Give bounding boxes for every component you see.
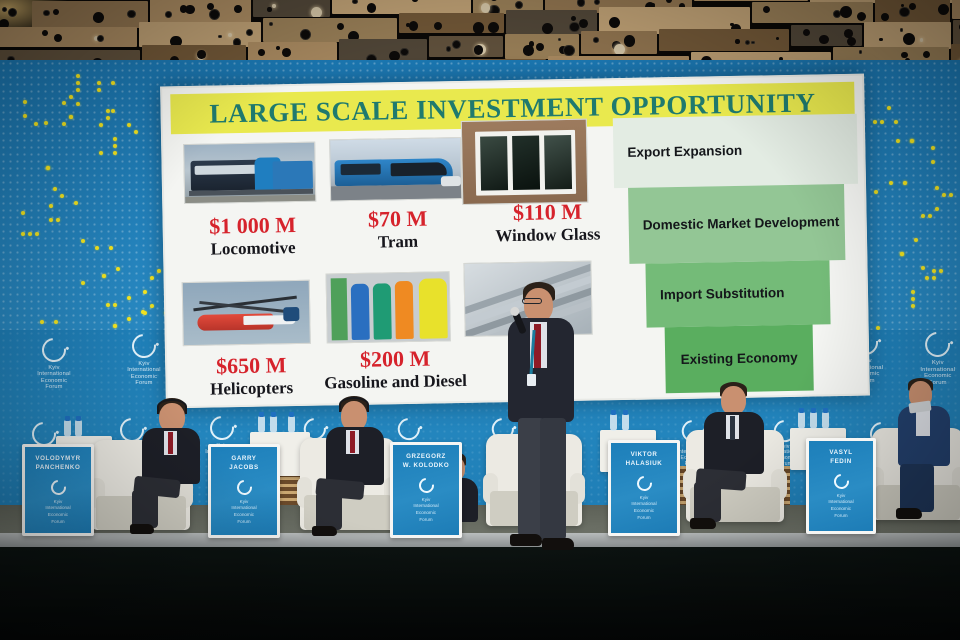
map-dot — [928, 214, 932, 218]
placard-name-1: GARRYJACOBS — [229, 454, 258, 473]
product-price-4: $200 M — [315, 345, 475, 374]
ceiling-light-hole — [276, 46, 280, 50]
map-dot — [54, 320, 58, 324]
ceiling-light-hole — [43, 10, 50, 17]
ceiling-light-hole — [536, 43, 545, 52]
map-dot — [46, 166, 50, 170]
ceiling-light-hole — [903, 33, 915, 45]
ceiling-light-hole — [542, 23, 553, 34]
ceiling-light-hole — [847, 37, 856, 46]
ceiling-light-hole — [666, 0, 673, 3]
map-dot — [62, 122, 66, 126]
map-dot — [127, 123, 131, 127]
ceiling-panel — [791, 25, 862, 46]
ceiling-light-hole — [481, 3, 490, 12]
map-dot — [69, 115, 73, 119]
shoe-4 — [690, 518, 716, 529]
map-dot — [106, 109, 110, 113]
ceiling-light-hole — [822, 36, 828, 42]
map-dot — [113, 137, 117, 141]
ceiling-light-hole — [8, 8, 17, 17]
map-dot — [76, 88, 80, 92]
ceiling-light-hole — [614, 44, 625, 55]
map-dot — [896, 139, 900, 143]
map-dot — [60, 194, 64, 198]
shoe-1 — [130, 524, 154, 534]
pyramid-level-3-label: Existing Economy — [681, 349, 798, 368]
ceiling-light-hole — [228, 33, 232, 37]
ceiling-panel — [864, 22, 951, 49]
map-dot — [949, 193, 953, 197]
map-dot — [889, 181, 893, 185]
ceiling-light-hole — [2, 7, 7, 12]
pyramid-level-2: Import Substitution — [645, 260, 830, 327]
opportunity-pyramid: Export Expansion Domestic Market Develop… — [613, 114, 862, 392]
ceiling-light-hole — [563, 45, 575, 57]
ceiling-panel — [752, 2, 872, 23]
placard-garry-jacobs[interactable]: GARRYJACOBS KyivInternational EconomicFo… — [208, 444, 280, 538]
map-dot — [113, 324, 117, 328]
ceiling-light-hole — [751, 41, 754, 44]
water-bottle-5 — [288, 416, 295, 433]
kief-ring-icon-0 — [47, 477, 68, 498]
ceiling-light-hole — [474, 45, 484, 55]
map-dot — [113, 151, 117, 155]
water-bottle-6 — [610, 414, 617, 431]
placard-sub-4: KyivInternational EconomicForum — [828, 493, 853, 521]
water-bottle-1 — [64, 420, 71, 437]
pyramid-level-0-label: Export Expansion — [613, 142, 742, 161]
map-dot — [62, 101, 66, 105]
ceiling-light-hole — [218, 35, 222, 39]
ceiling-light-hole — [488, 22, 499, 33]
ceiling-light-hole — [93, 12, 104, 23]
tie-4 — [730, 416, 735, 440]
map-dot — [894, 120, 898, 124]
ceiling-light-hole — [452, 40, 461, 49]
placard-sub-2: KyivInternational EconomicForum — [413, 497, 438, 525]
map-dot — [76, 102, 80, 106]
map-dot — [134, 130, 138, 134]
ceiling-panel — [139, 22, 260, 48]
tie-1 — [168, 432, 173, 454]
map-dot — [99, 123, 103, 127]
ceiling-light-hole — [920, 38, 923, 41]
kief-logo-0: KyivInternationalEconomicForum — [18, 338, 90, 390]
ceiling-light-hole — [165, 11, 172, 18]
map-dot — [150, 304, 154, 308]
ceiling-panel — [253, 0, 330, 17]
ceiling-light-hole — [446, 46, 451, 51]
map-dot — [21, 211, 25, 215]
ceiling-light-hole — [624, 35, 636, 47]
map-dot — [900, 252, 904, 256]
speaker-shoe-left — [510, 534, 542, 546]
leg-right-2 — [316, 492, 342, 530]
conference-stage-scene: KyivInternationalEconomicForumKyivIntern… — [0, 0, 960, 640]
ceiling-light-hole — [412, 0, 417, 2]
ceiling-panel — [399, 13, 505, 33]
shoe-5 — [896, 508, 922, 519]
ceiling-light-hole — [267, 7, 271, 11]
ceiling-panel — [332, 0, 471, 14]
ceiling-light-hole — [857, 12, 866, 21]
map-dot — [932, 269, 936, 273]
ceiling-light-hole — [197, 50, 205, 58]
map-dot — [113, 303, 117, 307]
ceiling-light-hole — [258, 49, 265, 56]
shirt-5 — [916, 410, 930, 436]
product-name-4: Gasoline and Diesel — [315, 371, 475, 394]
ceiling-light-hole — [593, 37, 599, 43]
map-dot — [76, 81, 80, 85]
map-dot — [102, 274, 106, 278]
map-dot — [111, 81, 115, 85]
ceiling-light-hole — [594, 0, 600, 5]
ceiling-panel — [429, 36, 502, 57]
ceiling-panel — [875, 0, 951, 24]
map-dot — [925, 276, 929, 280]
map-dot — [887, 106, 891, 110]
product-price-3: $650 M — [171, 351, 331, 380]
water-bottle-4 — [270, 416, 277, 433]
map-dot — [914, 238, 918, 242]
headset-1 — [157, 399, 187, 414]
map-dot — [127, 296, 131, 300]
placard-grzegorz-kolodko[interactable]: GRZEGORZW. KOLODKO KyivInternational Eco… — [390, 442, 462, 538]
map-dot — [116, 267, 120, 271]
ceiling-light-hole — [53, 9, 59, 15]
map-dot — [23, 100, 27, 104]
ceiling-light-hole — [434, 22, 442, 30]
map-dot — [874, 190, 878, 194]
map-dot — [911, 304, 915, 308]
map-dot — [49, 218, 53, 222]
ceiling-panel — [659, 29, 789, 51]
ceiling-light-hole — [859, 50, 862, 53]
product-price-0: $1 000 M — [172, 211, 332, 240]
ceiling-light-hole — [529, 41, 535, 47]
ceiling-panel — [952, 0, 960, 19]
kief-logo-label: KyivInternationalEconomicForum — [18, 365, 90, 390]
map-dot — [109, 246, 113, 250]
ceiling-panel — [150, 0, 251, 23]
panelist-person-5 — [896, 378, 960, 530]
ceiling-light-hole — [899, 7, 910, 18]
placard-name-4: VASYLFEDIN — [829, 448, 852, 467]
shoe-2 — [312, 526, 337, 536]
helicopter-photo — [182, 280, 311, 346]
ceiling-panel — [581, 31, 658, 54]
map-dot — [157, 269, 161, 273]
kief-ring-icon-1 — [233, 477, 254, 498]
map-dot — [106, 116, 110, 120]
water-bottle-8 — [798, 412, 805, 429]
kief-ring-icon — [37, 333, 71, 367]
map-dot — [44, 121, 48, 125]
ceiling-light-hole — [246, 29, 253, 36]
map-dot — [150, 276, 154, 280]
ceiling-light-hole — [490, 0, 498, 1]
map-dot — [106, 303, 110, 307]
ceiling-light-hole — [97, 35, 104, 42]
ceiling-panel — [32, 1, 148, 28]
ceiling-light-hole — [209, 9, 220, 20]
ceiling-light-hole — [473, 22, 485, 33]
map-dot — [932, 276, 936, 280]
ceiling-light-hole — [272, 4, 276, 8]
map-dot — [97, 81, 101, 85]
ceiling-light-hole — [900, 28, 903, 31]
standing-speaker — [500, 282, 588, 560]
speaker-badge — [527, 374, 536, 386]
speaker-shoe-right — [542, 538, 574, 550]
ceiling-light-hole — [735, 39, 739, 43]
pyramid-level-2-label: Import Substitution — [646, 285, 785, 304]
leg-5 — [900, 464, 934, 512]
map-dot — [69, 95, 73, 99]
ceiling-light-hole — [571, 16, 576, 21]
placard-volodymyr-panchenko[interactable]: VOLODYMYRPANCHENKO KyivInternational Eco… — [22, 444, 94, 536]
placard-name-2: GRZEGORZW. KOLODKO — [403, 452, 450, 471]
ceiling-light-hole — [609, 17, 621, 29]
product-name-0: Locomotive — [173, 237, 333, 260]
map-dot — [35, 232, 39, 236]
ceiling-light-hole — [745, 40, 750, 45]
ceiling-light-hole — [881, 13, 890, 22]
map-dot — [28, 232, 32, 236]
map-dot — [21, 232, 25, 236]
ceiling-light-hole — [577, 0, 586, 7]
placard-vasyl-fedin[interactable]: VASYLFEDIN KyivInternational EconomicFor… — [806, 438, 876, 534]
map-dot — [935, 186, 939, 190]
ceiling-light-hole — [515, 1, 523, 9]
speaker-head — [524, 288, 553, 322]
ceiling-light-hole — [938, 4, 949, 15]
ceiling-light-hole — [54, 34, 62, 42]
map-dot — [111, 109, 115, 113]
ceiling-light-hole — [127, 10, 136, 19]
ceiling-light-hole — [311, 7, 322, 17]
water-bottle-7 — [622, 414, 629, 431]
product-price-1: $70 M — [322, 205, 472, 234]
map-dot — [931, 146, 935, 150]
kief-ring-icon-4 — [830, 471, 851, 492]
ceiling-light-hole — [523, 45, 534, 56]
pyramid-level-0: Export Expansion — [613, 114, 858, 188]
map-dot — [935, 207, 939, 211]
ceiling-light-hole — [352, 0, 357, 4]
water-bottle-2 — [75, 420, 82, 437]
ceiling-light-hole — [803, 29, 810, 36]
map-dot — [939, 269, 943, 273]
ceiling-light-hole — [283, 49, 289, 55]
fuel-pumps-photo — [326, 271, 451, 343]
map-dot — [113, 144, 117, 148]
product-name-3: Helicopters — [171, 377, 331, 400]
placard-sub-1: KyivInternational EconomicForum — [231, 499, 256, 527]
map-dot — [49, 204, 53, 208]
tram-photo — [329, 137, 462, 201]
map-dot — [910, 139, 914, 143]
placard-name-0: VOLODYMYRPANCHENKO — [35, 454, 80, 473]
ceiling-light-hole — [367, 3, 377, 13]
water-bottle-9 — [810, 412, 817, 429]
ceiling-light-hole — [840, 6, 852, 18]
placard-sub-0: KyivInternational EconomicForum — [45, 499, 70, 527]
ceiling-light-hole — [909, 3, 916, 10]
ceiling-light-hole — [558, 38, 561, 41]
product-price-2: $110 M — [467, 198, 627, 227]
glasses-icon — [522, 298, 542, 304]
map-dot — [34, 122, 38, 126]
ceiling-light-hole — [42, 30, 48, 36]
placard-name-3: VIKTORHALASIUK — [626, 450, 663, 469]
map-dot — [23, 114, 27, 118]
ceiling-light-hole — [776, 37, 780, 41]
ceiling-light-hole — [763, 6, 770, 13]
leg-right-4 — [694, 482, 721, 522]
stage-front-face — [0, 547, 960, 640]
tie-2 — [350, 431, 355, 453]
water-bottle-10 — [822, 412, 829, 429]
map-dot — [931, 160, 935, 164]
map-dot — [143, 290, 147, 294]
ceiling-light-hole — [844, 29, 853, 38]
map-dot — [921, 266, 925, 270]
map-dot — [56, 218, 60, 222]
map-dot — [40, 320, 44, 324]
map-dot — [74, 201, 78, 205]
map-dot — [873, 120, 877, 124]
product-name-2: Window Glass — [468, 224, 628, 247]
ceiling-panel — [953, 20, 960, 45]
leg-right-1 — [132, 490, 158, 528]
ceiling-light-hole — [300, 29, 311, 40]
placard-viktor-halasiuk[interactable]: VIKTORHALASIUK KyivInternational Economi… — [608, 440, 680, 536]
kief-ring-icon-2 — [415, 475, 436, 496]
ceiling-light-hole — [879, 38, 883, 42]
map-dot — [99, 151, 103, 155]
map-dot — [911, 290, 915, 294]
pyramid-level-1-label: Domestic Market Development — [629, 214, 840, 235]
kief-ring-icon — [920, 327, 955, 362]
kief-ring-icon-3 — [633, 473, 654, 494]
map-dot — [81, 281, 85, 285]
ceiling-light-hole — [337, 23, 344, 30]
ceiling-light-hole — [269, 22, 273, 26]
map-dot — [95, 246, 99, 250]
map-dot — [127, 317, 131, 321]
window-glass-photo — [461, 119, 589, 205]
map-dot — [76, 74, 80, 78]
ceiling-light-hole — [730, 23, 734, 27]
ceiling-light-hole — [400, 48, 408, 56]
ceiling-panel — [0, 27, 137, 48]
map-dot — [880, 120, 884, 124]
map-dot — [903, 181, 907, 185]
headset-2 — [339, 397, 369, 412]
locomotive-photo — [183, 142, 316, 204]
map-dot — [97, 88, 101, 92]
map-dot — [911, 297, 915, 301]
placard-sub-3: KyivInternational EconomicForum — [631, 495, 656, 523]
water-bottle-3 — [258, 416, 265, 433]
map-dot — [141, 310, 145, 314]
ceiling-light-hole — [234, 5, 242, 13]
ceiling-light-hole — [923, 51, 931, 59]
panelist-person-4 — [694, 382, 790, 532]
speaker-leg-right — [540, 418, 566, 540]
pyramid-level-1: Domestic Market Development — [628, 184, 845, 264]
ceiling-light-hole — [409, 21, 419, 31]
product-name-1: Tram — [323, 231, 473, 254]
ceiling-light-hole — [185, 5, 194, 14]
map-dot — [942, 193, 946, 197]
kief-ring-icon — [127, 329, 161, 363]
map-dot — [53, 187, 57, 191]
ceiling-light-hole — [579, 19, 588, 28]
map-dot — [81, 239, 85, 243]
map-dot — [921, 214, 925, 218]
ceiling-light-hole — [569, 22, 579, 32]
head-4 — [721, 386, 746, 415]
